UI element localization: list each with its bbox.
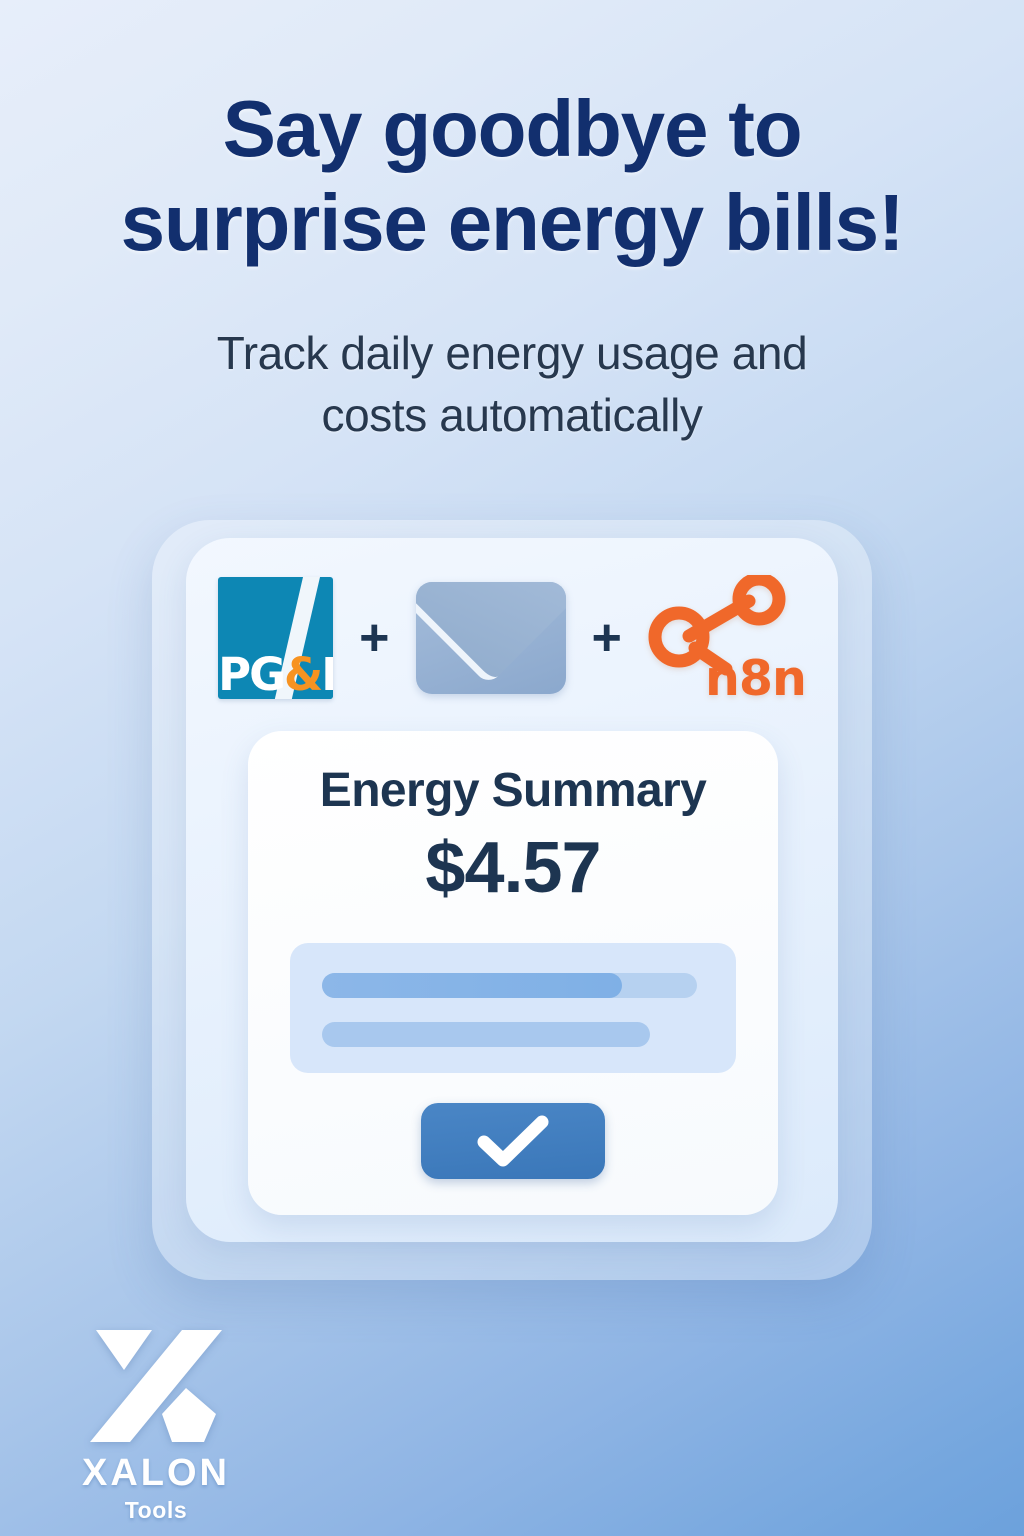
pge-logo-icon: PG&E xyxy=(218,577,333,699)
n8n-wordmark: n8n xyxy=(705,654,806,703)
n8n-logo-icon: n8n xyxy=(648,575,806,701)
detail-row-1-fill xyxy=(322,973,622,998)
subhead-line-2: costs automatically xyxy=(0,384,1024,446)
pge-wordmark-ampersand: & xyxy=(284,648,321,699)
summary-detail-panel xyxy=(290,943,736,1073)
energy-summary-card: Energy Summary $4.57 xyxy=(248,731,778,1215)
summary-card-title: Energy Summary xyxy=(248,763,778,818)
headline-line-2: surprise energy bills! xyxy=(0,176,1024,270)
integration-row: PG&E + + n8n xyxy=(186,558,838,718)
subhead-line-1: Track daily energy usage and xyxy=(217,327,808,379)
brand-tagline: Tools xyxy=(56,1499,256,1522)
pge-wordmark-left: PG xyxy=(218,648,284,699)
brand-name: XALON xyxy=(56,1454,256,1492)
checkmark-icon xyxy=(476,1114,550,1168)
page-title: Say goodbye to surprise energy bills! xyxy=(0,82,1024,271)
headline-line-1: Say goodbye to xyxy=(223,84,802,173)
email-envelope-icon xyxy=(416,582,566,694)
confirm-button[interactable] xyxy=(421,1103,605,1179)
envelope-flap xyxy=(416,582,566,686)
poster-canvas: Say goodbye to surprise energy bills! Tr… xyxy=(0,0,1024,1536)
detail-row-1-track xyxy=(322,973,697,998)
detail-row-2-track xyxy=(322,1022,650,1047)
pge-logo-wordmark: PG&E xyxy=(218,652,333,697)
xalon-logo-icon xyxy=(86,1326,226,1446)
page-subtitle: Track daily energy usage and costs autom… xyxy=(0,322,1024,446)
summary-card-amount: $4.57 xyxy=(248,827,778,909)
pge-wordmark-right: E xyxy=(321,648,333,699)
plus-icon-2: + xyxy=(592,612,622,664)
plus-icon-1: + xyxy=(359,612,389,664)
brand-lockup: XALON Tools xyxy=(56,1326,256,1522)
